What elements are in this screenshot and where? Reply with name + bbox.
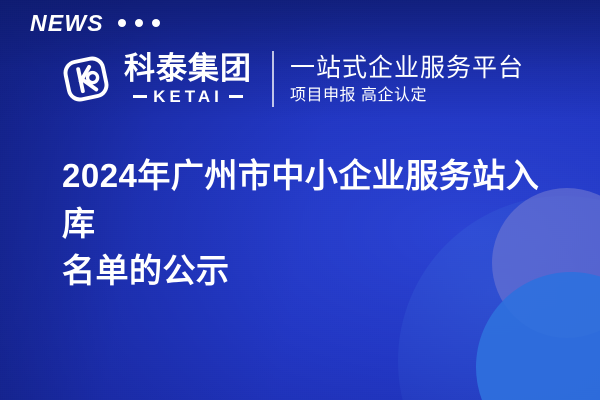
tagline-main: 一站式企业服务平台 [290,54,524,82]
headline-line-2: 名单的公示 [62,247,562,295]
brand-name-cn: 科泰集团 [124,53,252,86]
tagline-sub: 项目申报 高企认定 [290,87,524,105]
headline: 2024年广州市中小企业服务站入库 名单的公示 [62,152,562,295]
kicker-row: NEWS [30,12,160,35]
brand-name-en-row: KETAI [124,88,252,105]
kicker-label: NEWS [30,12,104,35]
dot-icon [135,19,143,27]
dot-icon [118,19,126,27]
kicker-dots-icon [118,19,160,29]
headline-line-1: 2024年广州市中小企业服务站入库 [62,152,562,247]
ketai-logo-mark-icon [58,51,114,107]
brand-rule-right [229,95,243,98]
brand-rule-left [133,95,147,98]
logo-band: 科泰集团 KETAI 一站式企业服务平台 项目申报 高企认定 [58,44,576,114]
news-banner: NEWS 科泰集团 KETAI 一 [0,0,600,400]
brand-lockup: 科泰集团 KETAI [124,53,252,105]
tagline-block: 一站式企业服务平台 项目申报 高企认定 [290,54,524,105]
brand-name-en: KETAI [153,88,223,105]
vertical-divider [272,51,274,107]
dot-icon [152,19,160,27]
